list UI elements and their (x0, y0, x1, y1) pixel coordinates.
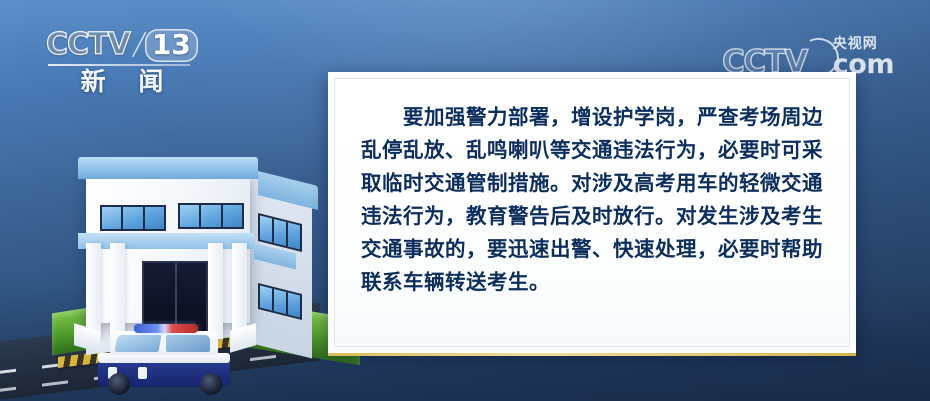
police-car-headlamp-right (138, 367, 147, 379)
entrance-pillar-4 (232, 243, 247, 339)
police-car-rear-wheel (200, 373, 222, 395)
caption-body-text: 要加强警力部署，增设护学岗，严查考场周边乱停乱放、乱鸣喇叭等交通违法行为，必要时… (361, 101, 823, 299)
caption-panel-inner: 要加强警力部署，增设护学岗，严查考场周边乱停乱放、乱鸣喇叭等交通违法行为，必要时… (334, 78, 850, 347)
channel-bug-divider (48, 64, 190, 66)
cctv-wordmark: CCTV (46, 30, 130, 60)
channel-bug: CCTV / 13 新 闻 (46, 28, 196, 102)
broadcast-frame: CCTV / 13 新 闻 CCTV 央视网 com (0, 0, 930, 401)
police-car-windshield (115, 335, 162, 352)
channel-bug-top-row: CCTV / 13 (46, 28, 196, 62)
building-window-upper-left (100, 205, 166, 231)
building-window-upper-right (178, 203, 244, 229)
channel-name-label: 新 闻 (46, 67, 196, 97)
police-car-front-wheel (108, 373, 130, 395)
channel-number-badge: 13 (145, 29, 198, 62)
police-station-3d-scene (0, 111, 360, 401)
building-roof-front (78, 157, 258, 179)
police-car-side-window (166, 335, 210, 352)
police-car (96, 325, 232, 397)
police-car-lightbar-icon (134, 324, 198, 333)
cctv-com-watermark: CCTV 央视网 com (722, 30, 894, 78)
entrance-canopy-front (78, 233, 254, 249)
caption-panel: 要加强警力部署，增设护学岗，严查考场周边乱停乱放、乱鸣喇叭等交通违法行为，必要时… (328, 72, 856, 353)
